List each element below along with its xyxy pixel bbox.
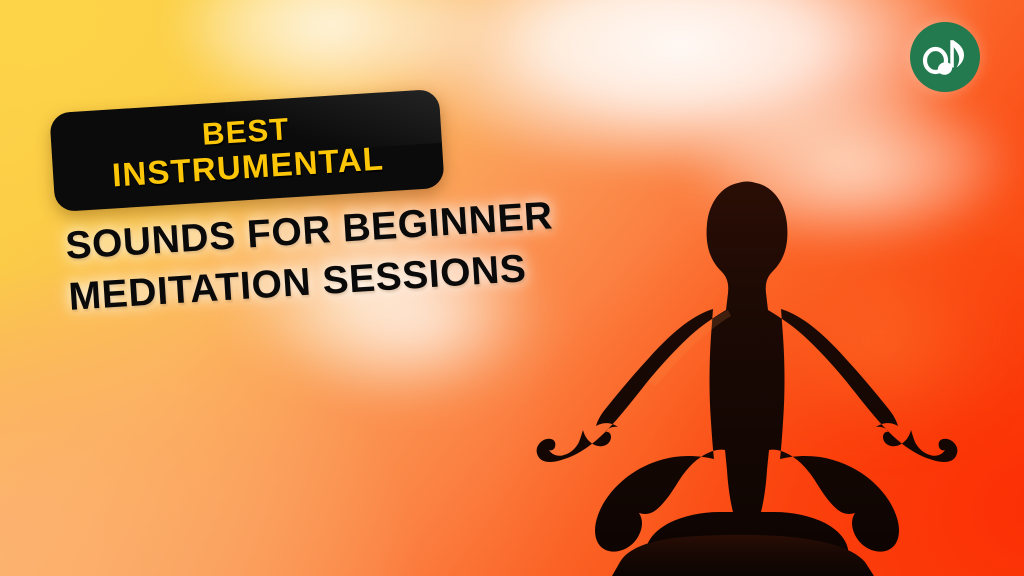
badge-line-1: BEST (201, 113, 290, 151)
logo-note-stem (950, 40, 954, 67)
badge-line-2: INSTRUMENTAL (111, 142, 385, 194)
brand-logo[interactable] (910, 22, 980, 92)
thumbnail-canvas: BEST INSTRUMENTAL SOUNDS FOR BEGINNER ME… (0, 0, 1024, 576)
